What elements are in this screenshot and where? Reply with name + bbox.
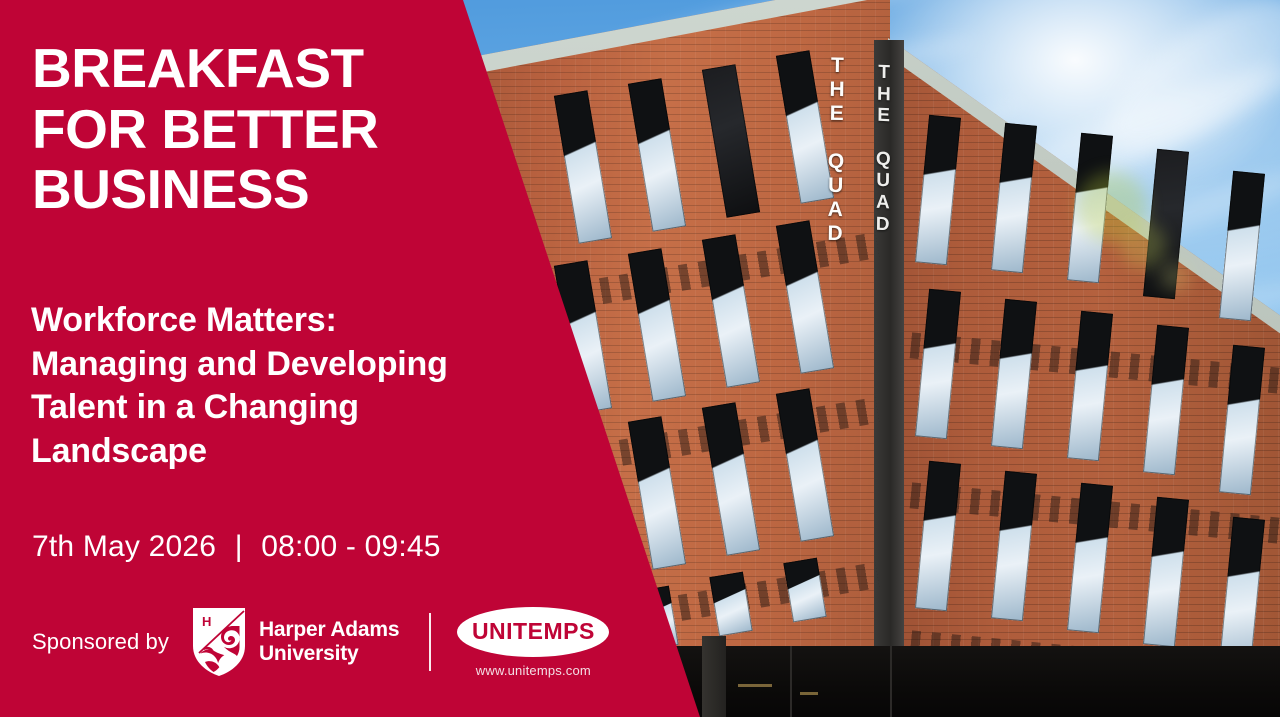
- headline-line-1: BREAKFAST: [32, 38, 462, 99]
- unitemps-url: www.unitemps.com: [476, 663, 591, 678]
- harper-adams-name-line-1: Harper Adams: [259, 618, 399, 641]
- harper-adams-crest-icon: H: [191, 606, 247, 678]
- the-quad-sign-front: THE QUAD: [827, 54, 846, 246]
- event-subheadline: Workforce Matters: Managing and Developi…: [31, 299, 561, 473]
- headline-line-3: BUSINESS: [32, 159, 462, 220]
- harper-adams-logo[interactable]: H Harper Adams University: [191, 606, 399, 678]
- event-time: 08:00 - 09:45: [261, 530, 440, 563]
- datetime-separator: |: [225, 530, 253, 564]
- unitemps-wordmark: UNITEMPS: [472, 618, 595, 645]
- headline-line-2: FOR BETTER: [32, 99, 462, 160]
- unitemps-logo[interactable]: UNITEMPS www.unitemps.com: [457, 607, 609, 678]
- unitemps-oval-badge: UNITEMPS: [457, 607, 609, 657]
- sponsors-row: Sponsored by H: [32, 604, 609, 680]
- subheadline-line-3: Talent in a Changing: [31, 386, 561, 430]
- svg-text:H: H: [202, 614, 211, 629]
- harper-adams-wordmark: Harper Adams University: [259, 618, 399, 667]
- event-headline: BREAKFAST FOR BETTER BUSINESS: [32, 38, 462, 220]
- subheadline-line-2: Managing and Developing: [31, 343, 561, 387]
- event-date: 7th May 2026: [32, 530, 216, 563]
- subheadline-line-1: Workforce Matters:: [31, 299, 561, 343]
- harper-adams-name-line-2: University: [259, 642, 359, 665]
- sponsored-by-label: Sponsored by: [32, 629, 169, 655]
- subheadline-line-4: Landscape: [31, 430, 561, 474]
- event-poster: THE QUAD THE QUAD BREAKFAST FOR BETTER B…: [0, 0, 1280, 717]
- sponsor-divider: [429, 613, 431, 671]
- event-datetime: 7th May 2026 | 08:00 - 09:45: [32, 530, 441, 564]
- the-quad-sign-side: THE QUAD: [875, 62, 891, 236]
